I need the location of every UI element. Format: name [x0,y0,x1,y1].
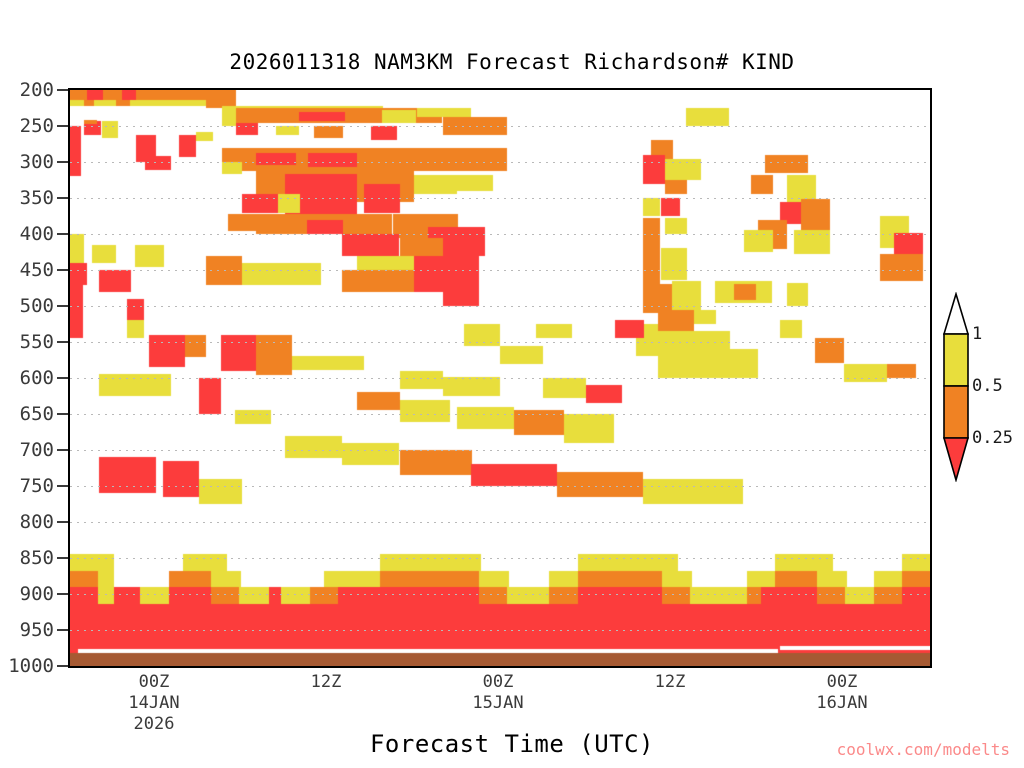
y-tick-label-650: 650 [20,403,54,425]
y-tick-label-800: 800 [20,511,54,533]
y-tick-label-200: 200 [20,79,54,101]
colorbar-tick-05: 0.5 [972,376,1003,396]
y-tick-label-750: 750 [20,475,54,497]
y-tick-mark-300 [57,161,68,163]
x-tick-line1-3: 12Z [655,672,686,693]
colorbar-tick-1: 1 [972,324,982,344]
y-tick-mark-450 [57,269,68,271]
x-tick-group-3: 12Z [655,672,686,693]
colorbar-swatches [940,292,972,482]
y-tick-mark-350 [57,197,68,199]
x-tick-group-1: 12Z [311,672,342,693]
y-tick-label-550: 550 [20,331,54,353]
y-tick-mark-200 [57,89,68,91]
gridline-1000 [70,666,930,667]
y-axis: 2002503003504004505005506006507007508008… [0,88,68,668]
x-tick-group-0: 00Z14JAN2026 [128,672,179,735]
y-tick-label-350: 350 [20,187,54,209]
colorbar-tick-025: 0.25 [972,428,1013,448]
y-tick-mark-550 [57,341,68,343]
x-tick-line2-2: 15JAN [472,693,523,714]
heatmap-canvas [70,90,930,666]
y-tick-mark-800 [57,521,68,523]
y-tick-label-300: 300 [20,151,54,173]
y-tick-label-400: 400 [20,223,54,245]
y-tick-label-700: 700 [20,439,54,461]
y-tick-label-500: 500 [20,295,54,317]
y-tick-mark-600 [57,377,68,379]
colorbar-legend: 1 0.5 0.25 [940,292,1024,482]
y-tick-label-250: 250 [20,115,54,137]
x-tick-line1-0: 00Z [128,672,179,693]
y-tick-label-600: 600 [20,367,54,389]
forecast-richardson-number-chart: 2026011318 NAM3KM Forecast Richardson# K… [0,0,1024,768]
y-tick-mark-700 [57,449,68,451]
y-tick-mark-850 [57,557,68,559]
x-tick-line2-4: 16JAN [816,693,867,714]
x-tick-line1-2: 00Z [472,672,523,693]
plot-area [68,88,932,668]
y-tick-mark-750 [57,485,68,487]
y-tick-mark-400 [57,233,68,235]
credit-watermark: coolwx.com/modelts [837,740,1010,759]
y-tick-mark-650 [57,413,68,415]
y-tick-label-450: 450 [20,259,54,281]
x-tick-group-4: 00Z16JAN [816,672,867,714]
y-tick-mark-250 [57,125,68,127]
x-tick-line1-4: 00Z [816,672,867,693]
y-tick-mark-500 [57,305,68,307]
y-tick-mark-900 [57,593,68,595]
x-tick-group-2: 00Z15JAN [472,672,523,714]
y-tick-label-900: 900 [20,583,54,605]
y-tick-mark-1000 [57,665,68,667]
chart-title: 2026011318 NAM3KM Forecast Richardson# K… [0,50,1024,74]
y-tick-mark-950 [57,629,68,631]
x-tick-line2-0: 14JAN [128,693,179,714]
y-tick-label-850: 850 [20,547,54,569]
x-tick-line1-1: 12Z [311,672,342,693]
y-tick-label-950: 950 [20,619,54,641]
